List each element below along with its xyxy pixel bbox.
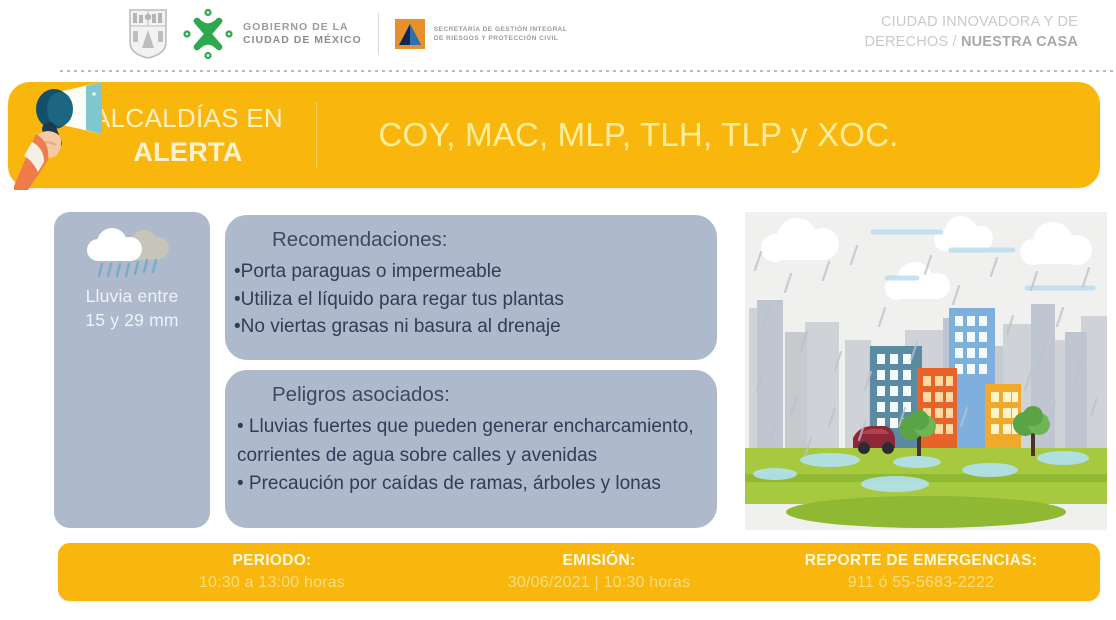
- recommendations-list: •Porta paraguas o impermeable •Utiliza e…: [225, 258, 717, 341]
- slogan-line-2: DERECHOS / NUESTRA CASA: [864, 32, 1078, 52]
- footer-emision-label: EMISIÓN:: [442, 550, 756, 572]
- list-item: •No viertas grasas ni basura al drenaje: [234, 313, 703, 341]
- recommendations-card: Recomendaciones: •Porta paraguas o imper…: [225, 215, 717, 360]
- footer-periodo-label: PERIODO:: [102, 550, 442, 572]
- slogan-strong: NUESTRA CASA: [961, 34, 1078, 50]
- footer-emergencias-label: REPORTE DE EMERGENCIAS:: [756, 550, 1086, 572]
- slogan-line-1: CIUDAD INNOVADORA Y DE: [864, 12, 1078, 32]
- weather-line-2: 15 y 29 mm: [54, 308, 210, 332]
- cdmx-shield-icon: [128, 8, 168, 60]
- rainy-city-illustration: [745, 212, 1107, 530]
- list-item: •Utiliza el líquido para regar tus plant…: [234, 286, 703, 314]
- megaphone-icon: [14, 78, 114, 190]
- alert-banner: ALCALDÍAS EN ALERTA COY, MAC, MLP, TLH, …: [8, 82, 1100, 188]
- weather-line-1: Lluvia entre: [54, 284, 210, 308]
- footer-emergencias: REPORTE DE EMERGENCIAS: 911 ó 55-5683-22…: [756, 550, 1086, 594]
- government-line-1: GOBIERNO DE LA: [243, 21, 362, 34]
- footer-info-bar: PERIODO: 10:30 a 13:00 horas EMISIÓN: 30…: [58, 543, 1100, 601]
- header-dotted-separator: [60, 70, 1116, 72]
- city-slogan: CIUDAD INNOVADORA Y DE DERECHOS / NUESTR…: [864, 12, 1078, 52]
- footer-periodo: PERIODO: 10:30 a 13:00 horas: [102, 550, 442, 594]
- slogan-prefix: DERECHOS /: [864, 34, 960, 50]
- secretariat-wordmark: SECRETARÍA DE GESTIÓN INTEGRAL DE RIESGO…: [434, 25, 568, 43]
- footer-periodo-value: 10:30 a 13:00 horas: [102, 572, 442, 594]
- government-wordmark: GOBIERNO DE LA CIUDAD DE MÉXICO: [243, 21, 362, 47]
- footer-emision: EMISIÓN: 30/06/2021 | 10:30 horas: [442, 550, 756, 594]
- recommendations-title: Recomendaciones:: [225, 215, 717, 258]
- list-item: • Lluvias fuertes que pueden generar enc…: [237, 413, 703, 470]
- list-item: •Porta paraguas o impermeable: [234, 258, 703, 286]
- list-item: • Precaución por caídas de ramas, árbole…: [237, 470, 703, 499]
- secretariat-line-2: DE RIESGOS Y PROTECCIÓN CIVIL: [434, 34, 568, 43]
- hazards-card: Peligros asociados: • Lluvias fuertes qu…: [225, 370, 717, 528]
- secretariat-line-1: SECRETARÍA DE GESTIÓN INTEGRAL: [434, 25, 568, 34]
- weather-card: Lluvia entre 15 y 29 mm: [54, 212, 210, 528]
- weather-text: Lluvia entre 15 y 29 mm: [54, 284, 210, 332]
- rain-cloud-icon: [82, 224, 182, 282]
- header-divider: [378, 13, 379, 55]
- logo-group: GOBIERNO DE LA CIUDAD DE MÉXICO SECRETAR…: [128, 6, 567, 62]
- sgirpc-logo-icon: [395, 19, 425, 49]
- hazards-list: • Lluvias fuertes que pueden generar enc…: [225, 413, 717, 499]
- alert-boroughs: COY, MAC, MLP, TLH, TLP y XOC.: [317, 116, 1100, 154]
- government-line-2: CIUDAD DE MÉXICO: [243, 34, 362, 47]
- footer-emergencias-value: 911 ó 55-5683-2222: [756, 572, 1086, 594]
- cdmx-logo-icon: [182, 8, 234, 60]
- hazards-title: Peligros asociados:: [225, 370, 717, 413]
- footer-emision-value: 30/06/2021 | 10:30 horas: [442, 572, 756, 594]
- page-header: GOBIERNO DE LA CIUDAD DE MÉXICO SECRETAR…: [0, 0, 1116, 68]
